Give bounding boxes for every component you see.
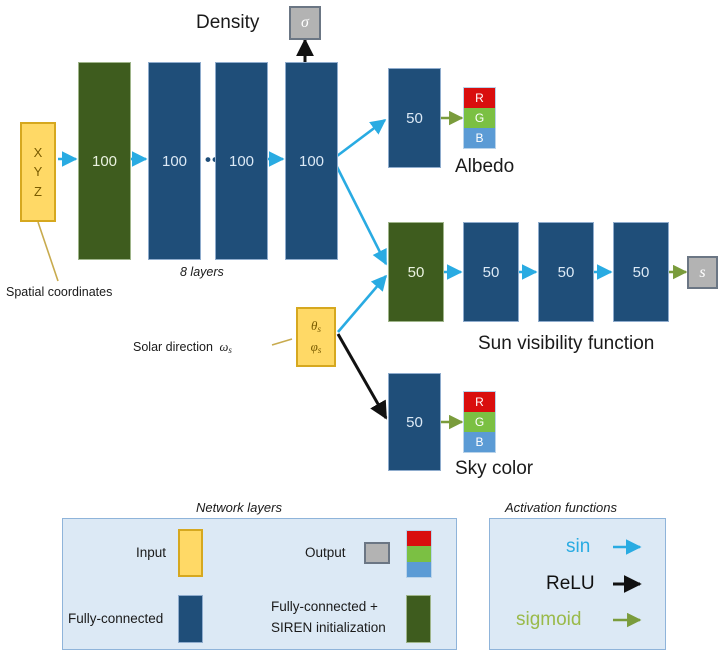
legend-activation-arrows [0, 0, 720, 658]
diagram-canvas: X Y Z Spatial coordinates 100 100 ••• 10… [0, 0, 720, 658]
